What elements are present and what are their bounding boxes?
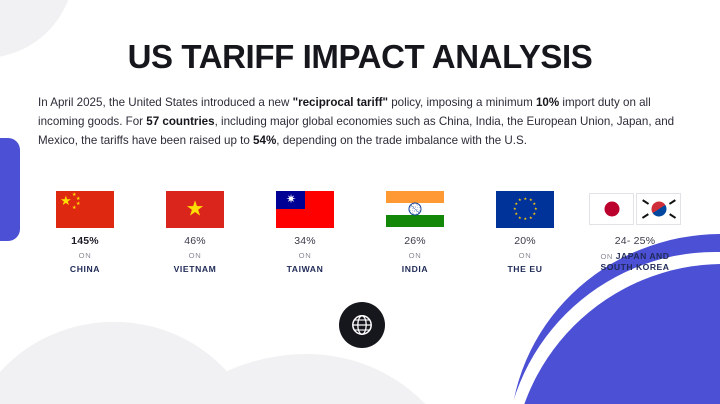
eu-country-label: THE EU [507,264,542,275]
india-country-label: INDIA [402,264,428,275]
paragraph-bold-max-rate: 54% [253,134,276,147]
taiwan-flag-box: ✷ [276,190,334,228]
india-flag-saffron-band [386,191,444,203]
eu-flag: ★ ★ ★ ★ ★ ★ ★ ★ ★ ★ ★ ★ [496,191,554,228]
paragraph-text-5: , depending on the trade imbalance with … [276,134,527,147]
taiwan-flag: ✷ [276,191,334,228]
japan-south-korea-country-line1: JAPAN AND [616,251,670,261]
taiwan-on-label: ON [299,251,312,260]
india-flag-box [386,190,444,228]
paragraph-bold-country-count: 57 countries [146,115,214,128]
page-title: US TARIFF IMPACT ANALYSIS [0,38,720,76]
india-flag-chakra [409,203,422,216]
south-korea-flag [636,193,681,225]
india-tariff-rate: 26% [404,235,426,247]
japan-south-korea-on-label: ON [601,252,613,261]
south-korea-flag-trigram-4 [669,213,676,219]
south-korea-flag-taeguk [648,199,669,220]
india-flag [386,191,444,228]
eu-flag-box: ★ ★ ★ ★ ★ ★ ★ ★ ★ ★ ★ ★ [496,190,554,228]
tariff-item-eu: ★ ★ ★ ★ ★ ★ ★ ★ ★ ★ ★ ★ 20% ON [470,190,580,275]
decoration-left-blue-tab [0,138,20,241]
vietnam-country-label: VIETNAM [174,264,217,275]
tariff-flag-row: ★ ★ ★ ★ ★ 145% ON CHINA ★ [30,190,690,275]
japan-flag [589,193,634,225]
paragraph-text-1: In April 2025, the United States introdu… [38,96,293,109]
india-flag-green-band [386,215,444,227]
tariff-item-china: ★ ★ ★ ★ ★ 145% ON CHINA [30,190,140,275]
tariff-item-india: 26% ON INDIA [360,190,470,275]
japan-south-korea-flag-box [589,190,681,228]
china-tariff-rate: 145% [71,235,99,247]
china-flag-box: ★ ★ ★ ★ ★ [56,190,114,228]
vietnam-on-label: ON [189,251,202,260]
tariff-item-japan-south-korea: 24- 25% ON JAPAN ANDSOUTH KOREA [580,190,690,275]
china-on-label: ON [79,251,92,260]
vietnam-flag-box: ★ [166,190,224,228]
globe-badge[interactable] [339,302,385,348]
japan-south-korea-tariff-rate: 24- 25% [615,235,656,247]
japan-flag-sun-disc [604,202,619,217]
china-country-label: CHINA [70,264,100,275]
taiwan-tariff-rate: 34% [294,235,316,247]
south-korea-flag-trigram-2 [669,199,676,205]
taiwan-country-label: TAIWAN [287,264,324,275]
paragraph-bold-minimum-rate: 10% [536,96,559,109]
japan-south-korea-label: ON JAPAN ANDSOUTH KOREA [600,251,669,273]
japan-south-korea-country-line2: SOUTH KOREA [600,262,669,272]
paragraph-text-2: policy, imposing a minimum [388,96,536,109]
eu-tariff-rate: 20% [514,235,536,247]
tariff-item-taiwan: ✷ 34% ON TAIWAN [250,190,360,275]
china-flag: ★ ★ ★ ★ ★ [56,191,114,228]
slide-canvas: US TARIFF IMPACT ANALYSIS In April 2025,… [0,0,720,404]
south-korea-flag-trigram-3 [642,213,649,219]
india-on-label: ON [409,251,422,260]
eu-on-label: ON [519,251,532,260]
summary-paragraph: In April 2025, the United States introdu… [38,93,686,150]
paragraph-bold-reciprocal-tariff: "reciprocal tariff" [293,96,388,109]
tariff-item-vietnam: ★ 46% ON VIETNAM [140,190,250,275]
vietnam-tariff-rate: 46% [184,235,206,247]
globe-icon [350,313,374,337]
vietnam-flag: ★ [166,191,224,228]
south-korea-flag-trigram-1 [642,199,649,205]
